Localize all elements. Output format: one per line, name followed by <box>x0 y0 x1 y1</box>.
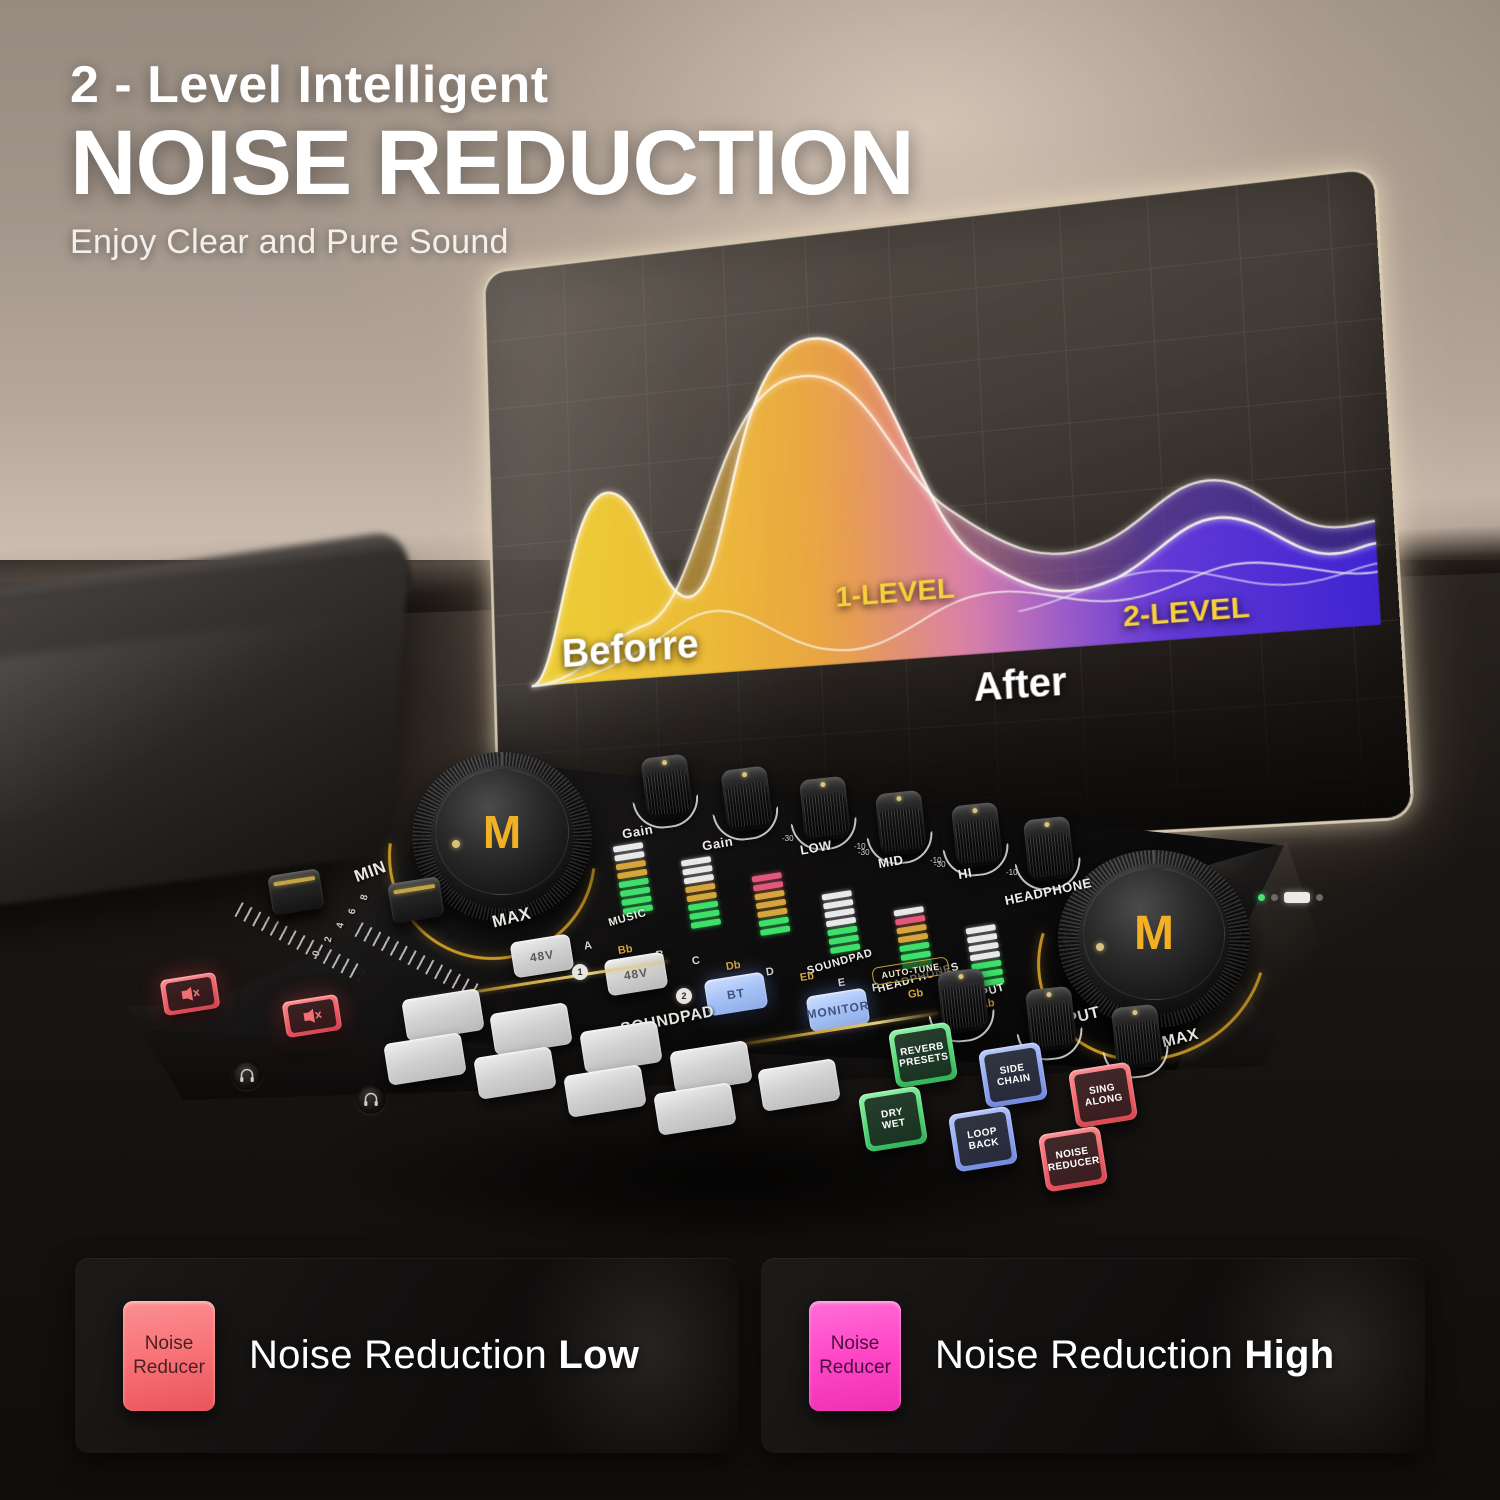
mute1-face <box>165 977 215 1012</box>
legend-text-high: Noise Reduction High <box>935 1333 1335 1378</box>
mid-eq-label: MID <box>877 852 905 871</box>
noise-reducer-button[interactable]: NOISE REDUCER <box>1038 1126 1108 1193</box>
output-knob-indicator-dot <box>1096 943 1104 951</box>
headline-line2: NOISE REDUCTION <box>70 117 914 211</box>
legend-high-emphasis: High <box>1244 1333 1334 1377</box>
phantom-power-button-2[interactable]: 48V <box>604 952 669 997</box>
mid-tick-min: -30 <box>858 848 870 857</box>
mute-button-1[interactable] <box>160 972 221 1016</box>
meter-3 <box>751 872 790 936</box>
note-label: D <box>765 965 775 978</box>
noise-reducer-key-high[interactable]: Noise Reducer <box>809 1301 901 1411</box>
phantom-power-button-1[interactable]: 48V <box>510 934 575 979</box>
product-marketing-scene: 2 - Level Intelligent NOISE REDUCTION En… <box>0 0 1500 1500</box>
note-label: C <box>691 954 701 967</box>
side-chain-face: SIDE CHAIN <box>984 1047 1043 1103</box>
gain2-label: Gain <box>701 833 734 853</box>
fader-scale-6: 6 <box>347 908 359 916</box>
note-label: A <box>583 939 593 952</box>
note-label: Bb <box>617 943 633 957</box>
maono-logo-icon-output: M <box>1134 910 1174 958</box>
mute2-face <box>287 999 337 1034</box>
legend-bar: Noise Reducer Noise Reduction Low Noise … <box>75 1258 1425 1453</box>
hi-tick-min: -30 <box>934 860 946 869</box>
legend-card-low: Noise Reducer Noise Reduction Low <box>75 1258 739 1453</box>
legend-low-prefix: Noise Reduction <box>249 1333 558 1377</box>
audio-mixer-device: M MIN MAX M OUTPUT MAX <box>120 740 1320 1260</box>
note-label: Gb <box>907 987 924 1001</box>
status-led-strip <box>1258 892 1323 903</box>
low-tick-min: -30 <box>782 834 794 843</box>
maono-logo-icon: M <box>483 809 521 855</box>
hi-knob-ring <box>943 843 1012 880</box>
mic-mute-icon <box>178 984 202 1003</box>
aux-led-icon <box>1316 894 1323 901</box>
dry-wet-face: DRY WET <box>864 1091 923 1147</box>
power-led-icon <box>1258 894 1265 901</box>
fader1-cap[interactable] <box>267 868 325 916</box>
key-low-line1: Noise <box>145 1332 194 1356</box>
headline-block: 2 - Level Intelligent NOISE REDUCTION En… <box>70 55 914 262</box>
sing-along-face: SING ALONG <box>1074 1067 1133 1123</box>
noise-reducer-key-low[interactable]: Noise Reducer <box>123 1301 215 1411</box>
loop-back-face: LOOP BACK <box>954 1111 1013 1167</box>
headline-line1: 2 - Level Intelligent <box>70 55 914 115</box>
output-knob-cap: M <box>1083 868 1225 1000</box>
knob-indicator-dot <box>452 840 460 848</box>
legend-high-prefix: Noise Reduction <box>935 1333 1244 1377</box>
main-knob-min-label: MIN <box>352 857 390 887</box>
legend-text-low: Noise Reduction Low <box>249 1333 639 1378</box>
dry-wet-button[interactable]: DRY WET <box>858 1086 928 1153</box>
fader1-track[interactable] <box>234 902 365 982</box>
soundpad-pad[interactable] <box>579 1020 663 1074</box>
hi-eq-label: HI <box>957 865 974 882</box>
chart-annotation-after: After <box>973 660 1068 711</box>
note-label: Eb <box>799 970 815 984</box>
gain1-label: Gain <box>621 821 654 841</box>
headphone-icon <box>239 1067 255 1083</box>
legend-card-high: Noise Reducer Noise Reduction High <box>761 1258 1425 1453</box>
headline-subtitle: Enjoy Clear and Pure Sound <box>70 223 914 262</box>
headphone-jack-1[interactable] <box>232 1060 262 1090</box>
key-high-line2: Reducer <box>819 1356 891 1380</box>
fader-scale-4: 4 <box>335 922 347 930</box>
mute-button-2[interactable] <box>282 994 343 1038</box>
dry-wet-line2: WET <box>881 1117 906 1132</box>
mic-mute-icon <box>300 1006 324 1025</box>
headphone-icon <box>363 1091 379 1107</box>
reverb-presets-face: REVERB PRESETS <box>894 1027 953 1083</box>
fader-scale-2: 2 <box>323 936 335 944</box>
sing-along-button[interactable]: SING ALONG <box>1068 1062 1138 1129</box>
meter-soundpad <box>821 890 860 954</box>
legend-low-emphasis: Low <box>558 1333 639 1377</box>
status-led-icon <box>1271 894 1278 901</box>
meter-2 <box>681 856 721 929</box>
noise-reducer-face: NOISE REDUCER <box>1044 1131 1103 1187</box>
soundpad-index-2: 2 <box>676 988 692 1004</box>
note-label: E <box>837 976 846 989</box>
fader2-cap[interactable] <box>387 876 445 924</box>
soundpad-index-1: 1 <box>572 964 588 980</box>
reverb-presets-button[interactable]: REVERB PRESETS <box>888 1022 958 1089</box>
knob-cap: M <box>435 769 568 895</box>
side-chain-button[interactable]: SIDE CHAIN <box>978 1042 1048 1109</box>
key-high-line1: Noise <box>831 1332 880 1356</box>
headphone-jack-2[interactable] <box>356 1084 386 1114</box>
loop-back-button[interactable]: LOOP BACK <box>948 1106 1018 1173</box>
soundpad-pad[interactable] <box>489 1002 573 1056</box>
battery-indicator-icon <box>1284 892 1310 903</box>
fader-scale-8: 8 <box>359 894 371 902</box>
key-low-line2: Reducer <box>133 1356 205 1380</box>
note-label: Db <box>725 959 741 973</box>
meter-music <box>613 842 653 915</box>
